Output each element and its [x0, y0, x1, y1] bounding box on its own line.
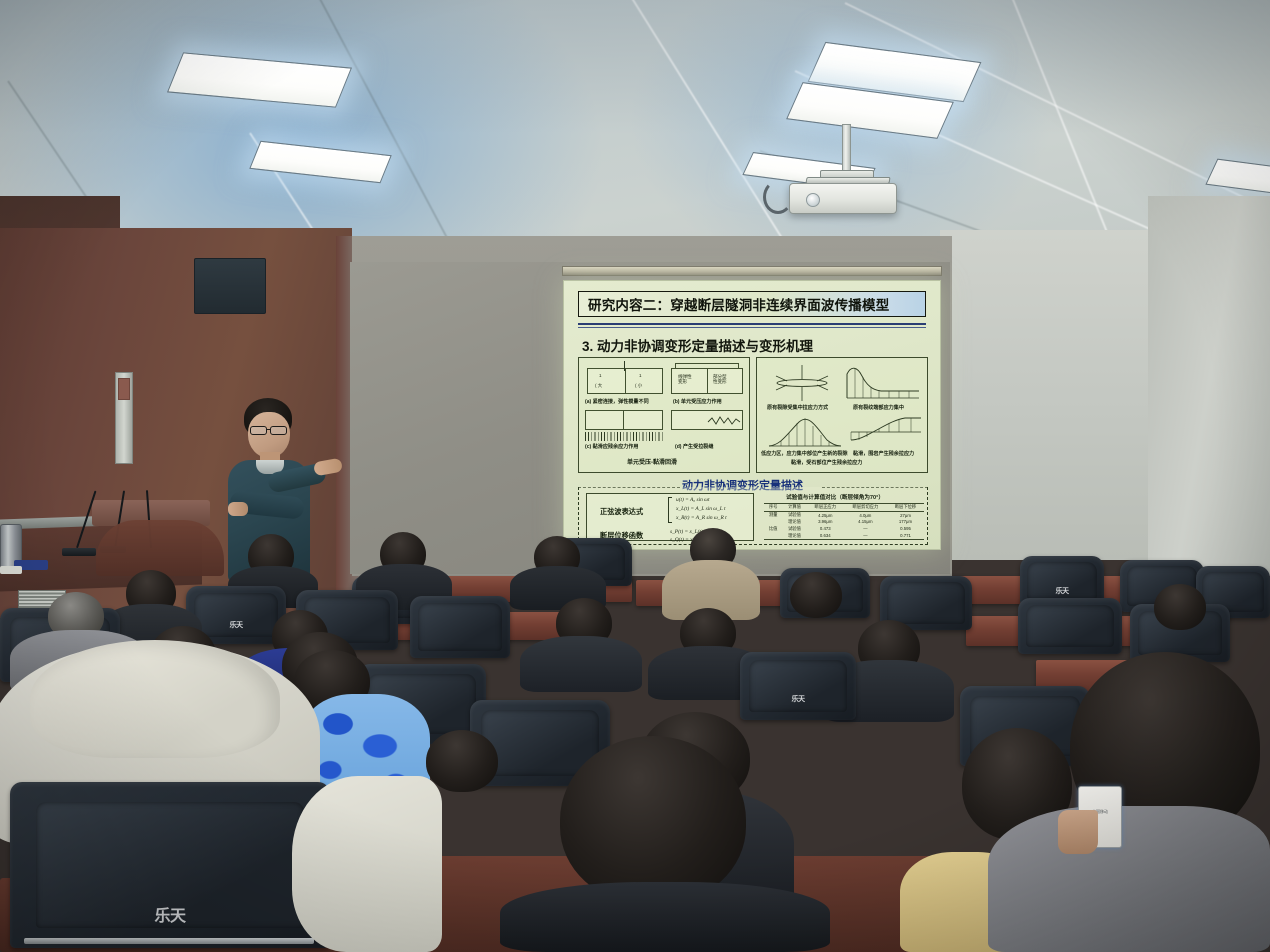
audience-seat[interactable]: 乐天 [740, 652, 856, 720]
caption-c: (c) 黏滑应残余应力作用 [585, 443, 639, 450]
seat-cushion [1026, 605, 1113, 648]
podium-chair-back [96, 520, 224, 576]
formula-line-3: x_R(t) = A_R sin ω_R t [676, 515, 727, 521]
microphone-base [62, 548, 96, 556]
table-cell: 试验值 [782, 525, 807, 532]
table-cell: 比值 [764, 525, 782, 532]
wall-speaker [194, 258, 266, 314]
table-cell: — [844, 532, 887, 539]
table-cell: 4.25μm [807, 511, 844, 518]
table-header-cell: 序号 [764, 504, 782, 512]
seat-brand-logo: 乐天 [154, 902, 185, 926]
projector-lens-icon [806, 193, 820, 207]
diagram-divider [707, 368, 708, 394]
table-header-cell: 断层剪切应力 [844, 504, 887, 512]
hoodie-hood [30, 640, 280, 758]
table-cell [764, 532, 782, 539]
table-cell: 27μm [887, 511, 924, 518]
fracture-diagram-icon [771, 364, 833, 402]
audience-head [790, 572, 842, 618]
slide-heading: 3. 动力非协调变形定量描述与变形机理 [582, 335, 813, 355]
formula-line-2: x_L(t) = A_L sin ω_L t [676, 506, 726, 512]
audience-body-foreground [500, 882, 830, 952]
formula-brace [668, 497, 672, 523]
table-header-cell: 计算值 [782, 504, 807, 512]
audience-head [1154, 584, 1206, 630]
projector-mount-pole [842, 124, 851, 172]
slide-title: 研究内容二：穿越断层隧洞非连续界面波传播模型 [579, 294, 889, 314]
screen-roller-bar [562, 266, 942, 276]
cell-a-right-value: 1 [639, 373, 641, 378]
cell-a-left-value: 1 [599, 373, 601, 378]
empty-seat[interactable] [1018, 598, 1122, 654]
glasses-right-lens-icon [270, 426, 287, 435]
table-cell: 177μm [887, 519, 924, 526]
audience-head-foreground [560, 736, 746, 904]
table-header-row: 序号 计算值 断层正应力 断层剪切应力 断层下位移 [764, 504, 924, 512]
right-panel-bottom-caption: 黏滑，受石部位产生残余拉应力 [791, 459, 862, 466]
hand-holding-phone [1058, 810, 1098, 854]
presenter-resting-hand [228, 502, 248, 516]
cell-a-left-sub: ( 大 [595, 383, 602, 389]
caption-b: (b) 单元受压应力作用 [673, 398, 722, 405]
stress-decay-curve-icon [845, 364, 921, 400]
audience-head [426, 730, 498, 792]
lecture-hall-scene: 研究内容二：穿越断层隧洞非连续界面波传播模型 3. 动力非协调变形定量描述与变形… [0, 0, 1270, 952]
audience-body [520, 636, 642, 692]
table-row: 理论值 0.634 — 0.771 [764, 532, 924, 539]
cell-b-right-label: 部分型 性变形 [713, 374, 726, 384]
foreground-seat[interactable]: 乐天 [10, 782, 330, 948]
presenter-pointing-hand [313, 458, 343, 477]
diagram-cell-c [585, 410, 663, 430]
table-cell: 0.634 [807, 532, 844, 539]
right-caption-1: 原有裂隙受集中拉应力方式 [767, 404, 828, 411]
left-panel-bottom-caption: 单元受压-黏滑回滑 [627, 457, 677, 466]
table-cell [764, 519, 782, 526]
formula-line-1: u(t) = A₀ sin ωt [676, 497, 709, 503]
right-caption-3: 低应力区，应力集中部位产生新的裂隙 [761, 450, 848, 457]
table-title: 试验值与计算值对比（断层倾角为70°） [786, 493, 884, 501]
table-cell: 4.15μm [844, 519, 887, 526]
seat-cushion [194, 593, 278, 637]
stress-sigmoid-curve-icon [849, 414, 923, 448]
table-cell: 0.473 [807, 525, 844, 532]
diagram-divider [625, 368, 626, 394]
right-caption-2: 原有裂纹端部应力集中 [853, 404, 904, 411]
slide-right-panel: 原有裂隙受集中拉应力方式 原有裂纹端部应力集中 [756, 357, 928, 473]
audience-body-beige-sleeve [292, 776, 442, 952]
glasses-bridge-icon [266, 429, 271, 430]
caption-d: (d) 产生受拉裂缝 [675, 443, 713, 450]
seat-cushion [749, 660, 846, 712]
caption-a: (a) 紧密连接，弹性模量不同 [585, 398, 649, 405]
podium-object-white [0, 566, 22, 574]
right-wall-panel [1148, 196, 1270, 576]
glasses-left-lens-icon [250, 426, 267, 435]
audience-body-gray-sweater [988, 806, 1270, 952]
table-cell: 4.0μm [844, 511, 887, 518]
cell-a-right-sub: ( 小 [635, 383, 642, 389]
slide-left-panel: 1 1 ( 大 ( 小 线弹性 变形 部分型 性变形 (a) 紧密连接，弹性模量… [578, 357, 750, 473]
cell-b-left-label: 线弹性 变形 [678, 374, 691, 384]
table-header-cell: 断层下位移 [887, 504, 924, 512]
right-caption-4: 黏滑，围岩产生残余拉应力 [853, 450, 914, 457]
seat-brand-logo: 乐天 [1056, 586, 1069, 596]
seat-rail [24, 938, 314, 944]
projector-cable [763, 180, 793, 214]
table-cell: 理论值 [782, 519, 807, 526]
table-row: 测量 试验值 4.25μm 4.0μm 27μm [764, 511, 924, 518]
wall-control-slot [118, 378, 130, 400]
table-cell: 3.96μm [807, 519, 844, 526]
presentation-slide: 研究内容二：穿越断层隧洞非连续界面波传播模型 3. 动力非协调变形定量描述与变形… [563, 280, 941, 550]
slide-title-rule-thin [578, 327, 926, 328]
comparison-table: 序号 计算值 断层正应力 断层剪切应力 断层下位移 测量 试验值 4.25μm … [764, 503, 924, 540]
diagram-divider [623, 410, 624, 430]
seat-cushion [418, 603, 502, 650]
seat-cushion [887, 582, 964, 623]
formula-label-sine: 正弦波表达式 [600, 507, 643, 517]
table-cell: — [844, 525, 887, 532]
audience-seat[interactable] [410, 596, 510, 658]
table-cell: 0.595 [887, 525, 924, 532]
table-row: 理论值 3.96μm 4.15μm 177μm [764, 519, 924, 526]
slide-title-box: 研究内容二：穿越断层隧洞非连续界面波传播模型 [578, 291, 926, 317]
table-cell: 试验值 [782, 511, 807, 518]
table-cell: 0.771 [887, 532, 924, 539]
table-cell: 测量 [764, 511, 782, 518]
diagram-arrow-stem [624, 361, 625, 371]
table-row: 比值 试验值 0.473 — 0.595 [764, 525, 924, 532]
seat-brand-logo: 乐天 [792, 694, 805, 704]
crack-wave-icon [707, 413, 741, 428]
stress-hump-curve-icon [767, 414, 843, 448]
seat-brand-logo: 乐天 [230, 620, 243, 630]
diagram-bracket [675, 363, 739, 368]
table-header-cell: 断层正应力 [807, 504, 844, 512]
slide-title-rule [578, 323, 926, 325]
diagram-hatching [585, 432, 663, 441]
table-cell: 理论值 [782, 532, 807, 539]
